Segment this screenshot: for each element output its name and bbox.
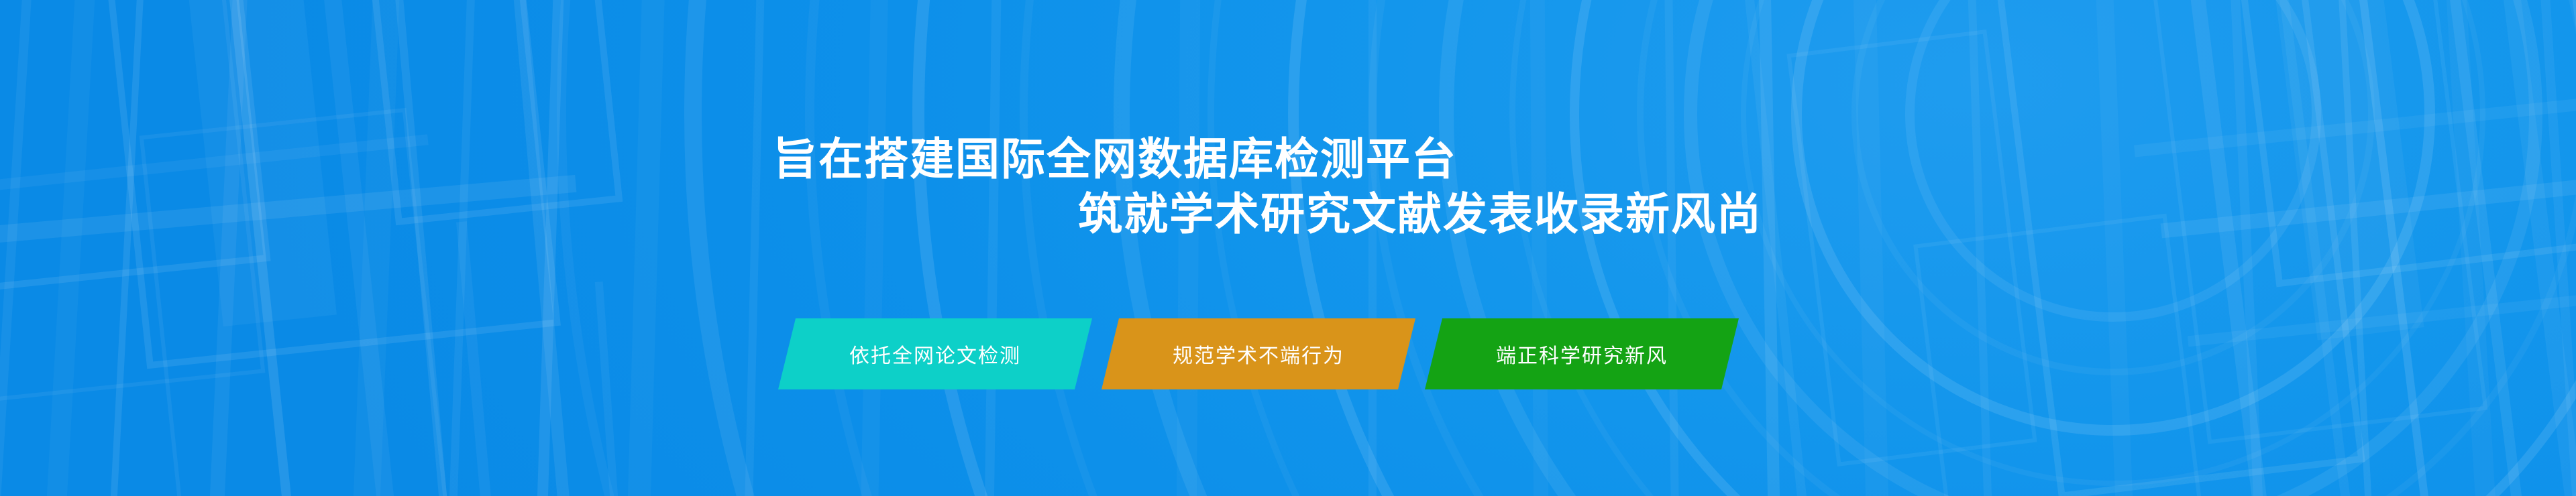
promo-banner: 旨在搭建国际全网数据库检测平台 筑就学术研究文献发表收录新风尚 依托全网论文检测…: [0, 0, 2576, 496]
feature-badge-2[interactable]: 规范学术不端行为: [1102, 318, 1415, 389]
feature-badge-2-label: 规范学术不端行为: [1173, 339, 1344, 369]
feature-badge-3-label: 端正科学研究新风: [1496, 339, 1668, 369]
geometric-frames-decoration: [0, 0, 2576, 496]
feature-badge-3[interactable]: 端正科学研究新风: [1425, 318, 1739, 389]
feature-badge-1-label: 依托全网论文检测: [849, 339, 1021, 369]
feature-badge-1[interactable]: 依托全网论文检测: [778, 318, 1092, 389]
feature-badge-strip: 依托全网论文检测 规范学术不端行为 端正科学研究新风: [0, 318, 2576, 389]
